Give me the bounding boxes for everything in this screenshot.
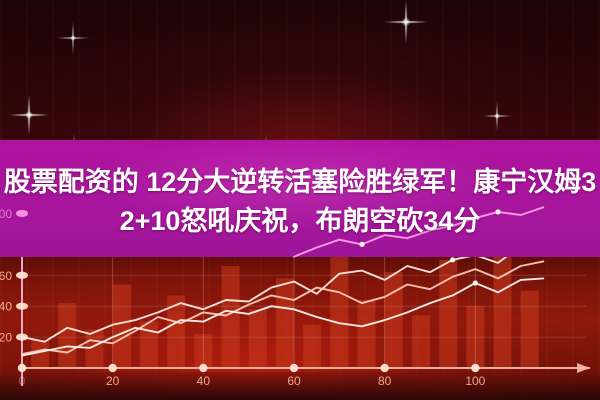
banner-image: 02040608010020406080 100 股票配资的 12分大逆转活塞险… xyxy=(0,0,600,400)
headline-text: 股票配资的 12分大逆转活塞险胜绿军！康宁汉姆3 2+10怒吼庆祝，布朗空砍34… xyxy=(0,163,600,241)
chart-point-marker xyxy=(359,242,364,247)
headline-line-1: 股票配资的 12分大逆转活塞险胜绿军！康宁汉姆3 xyxy=(0,163,600,202)
headline-line-2: 2+10怒吼庆祝，布朗空砍34分 xyxy=(0,202,600,241)
